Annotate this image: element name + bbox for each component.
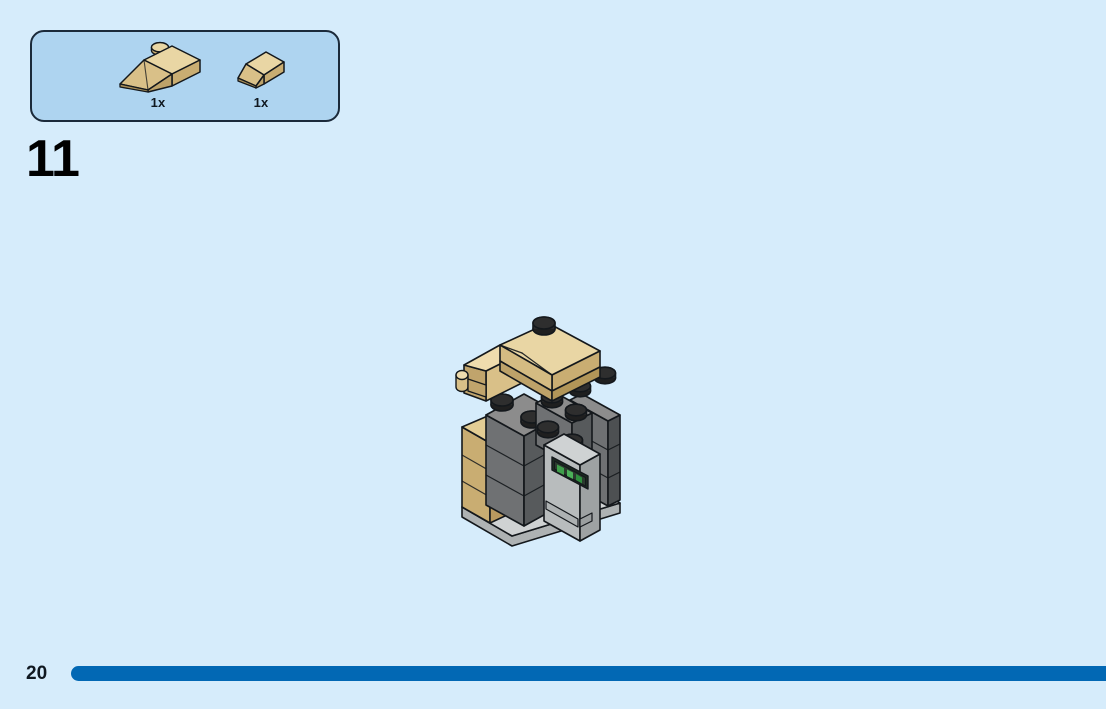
- part-quantity-label: 1x: [218, 96, 304, 110]
- model-illustration: [440, 305, 660, 565]
- part-image-tan-slope-1x1: [218, 38, 304, 96]
- step-number: 11: [26, 133, 79, 185]
- part-item-tan-slope-1x1: 1x: [218, 38, 304, 122]
- lego-model-graphic: [440, 305, 660, 565]
- progress-bar-track: [71, 666, 1106, 681]
- part-image-tan-slope-2x1: [110, 38, 206, 96]
- page-footer: 20: [0, 661, 1106, 689]
- page-number: 20: [26, 664, 47, 684]
- progress-bar-fill: [71, 666, 1106, 681]
- instruction-page: 1x 1x 11: [0, 0, 1106, 709]
- parts-callout-box: 1x 1x: [30, 30, 340, 122]
- part-quantity-label: 1x: [110, 96, 206, 110]
- part-item-tan-slope-2x1: 1x: [110, 38, 206, 122]
